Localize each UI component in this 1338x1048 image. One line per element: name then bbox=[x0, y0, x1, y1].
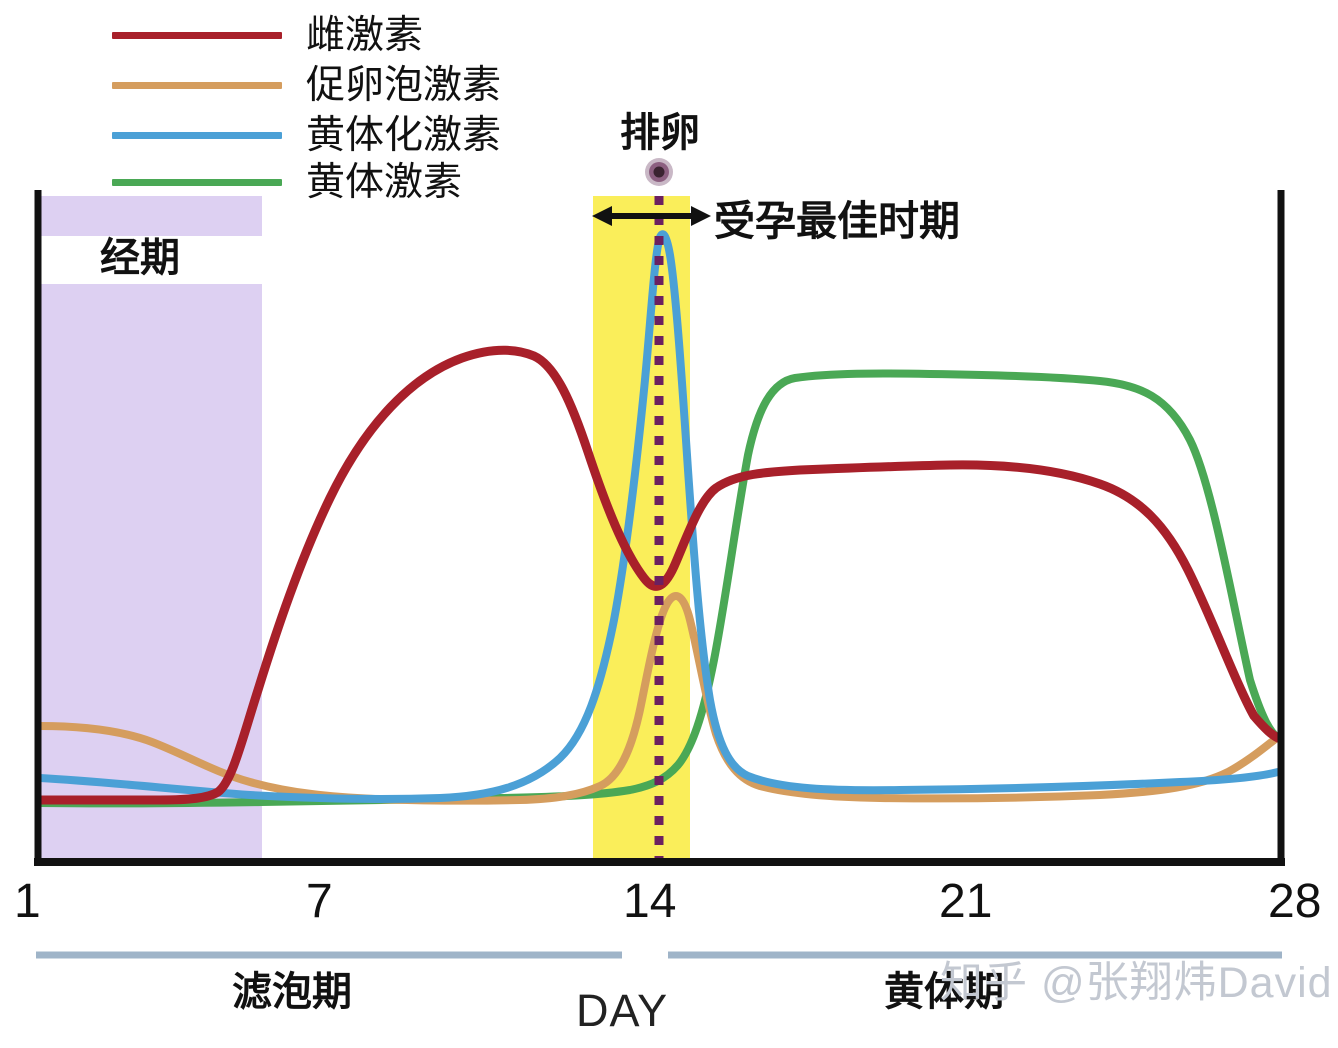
ovum-icon bbox=[645, 158, 673, 186]
phase-label-follicular: 滤泡期 bbox=[232, 972, 352, 1012]
x-tick-14: 14 bbox=[623, 878, 676, 926]
x-tick-1: 1 bbox=[14, 878, 41, 926]
x-tick-28: 28 bbox=[1268, 878, 1321, 926]
menstrual-phase-band bbox=[40, 196, 262, 860]
menstruation-label: 经期 bbox=[100, 238, 180, 278]
watermark-text: 知乎 @张翔炜David bbox=[940, 962, 1333, 1005]
hormone-cycle-chart: 雌激素 促卵泡激素 黄体化激素 黄体激素 bbox=[0, 0, 1338, 1048]
x-tick-7: 7 bbox=[306, 878, 333, 926]
fertile-window-label: 受孕最佳时期 bbox=[714, 201, 960, 242]
x-axis-title: DAY bbox=[576, 985, 668, 1037]
x-tick-21: 21 bbox=[939, 878, 992, 926]
ovulation-label: 排卵 bbox=[620, 113, 700, 153]
